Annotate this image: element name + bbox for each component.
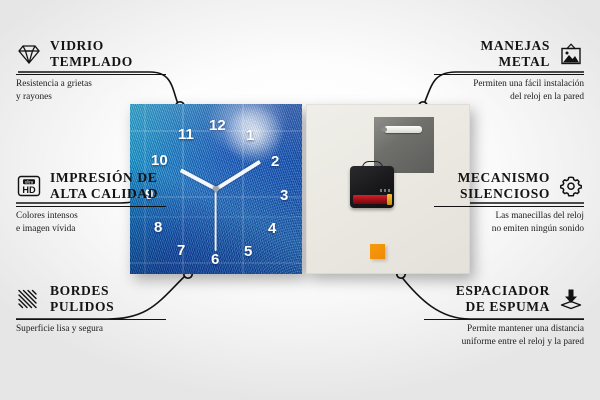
polished-edges-icon [16,288,42,310]
clock-numeral-10: 10 [151,153,168,168]
callout-description: Superficie lisa y segura [16,323,166,336]
callout-title: ESPACIADOR DE ESPUMA [456,283,550,315]
callout-mecanismo-silencioso: MECANISMO SILENCIOSO Las manecillas del … [434,170,584,236]
callout-header: ultra HD IMPRESIÓN DE ALTA CALIDAD [16,170,166,202]
callout-title-line2: ALTA CALIDAD [50,186,158,201]
callout-title-line1: ESPACIADOR [456,283,550,298]
callout-title: VIDRIO TEMPLADO [50,38,133,70]
callout-divider [16,319,166,321]
callout-description: Las manecillas del reloj no emiten ningú… [434,210,584,236]
clock-numeral-11: 11 [178,127,194,142]
clock-numeral-12: 12 [209,118,226,133]
callout-title-line1: VIDRIO [50,38,104,53]
callout-title: MANEJAS METAL [481,38,550,70]
mechanism-hanging-loop [362,161,383,171]
metal-hanger-plate [374,117,434,173]
callout-header: VIDRIO TEMPLADO [16,38,166,70]
callout-divider [434,74,584,76]
battery [353,195,391,204]
callout-header: MANEJAS METAL [434,38,584,70]
callout-title-line2: PULIDOS [50,299,114,314]
callout-description: Permiten una fácil instalación del reloj… [434,78,584,104]
callout-impresion-alta-calidad: ultra HD IMPRESIÓN DE ALTA CALIDAD Color… [16,170,166,236]
callout-title: MECANISMO SILENCIOSO [458,170,550,202]
product-photo: 12 1 2 3 4 5 6 7 8 9 10 11 [130,104,470,274]
callout-title-line1: MANEJAS [481,38,550,53]
clock-numeral-5: 5 [244,244,252,259]
clock-numeral-7: 7 [177,243,185,258]
clock-numeral-3: 3 [280,188,288,203]
callout-title-line2: DE ESPUMA [465,299,550,314]
callout-espaciador-de-espuma: ESPACIADOR DE ESPUMA Permite mantener un… [424,283,584,349]
callout-title: IMPRESIÓN DE ALTA CALIDAD [50,170,158,202]
callout-divider [434,206,584,208]
callout-title-line1: BORDES [50,283,109,298]
callout-divider [424,319,584,321]
callout-title-line2: METAL [498,54,550,69]
gear-icon [558,175,584,197]
callout-divider [16,206,166,208]
callout-divider [16,74,166,76]
callout-description: Permite mantener una distancia uniforme … [424,323,584,349]
clock-second-hand [215,189,217,251]
callout-description: Colores intensos e imagen vívida [16,210,166,236]
callout-header: MECANISMO SILENCIOSO [434,170,584,202]
foam-spacer [370,244,385,259]
callout-header: BORDES PULIDOS [16,283,166,315]
callout-vidrio-templado: VIDRIO TEMPLADO Resistencia a grietas y … [16,38,166,104]
arrow-down-pad-icon [558,288,584,310]
callout-header: ESPACIADOR DE ESPUMA [424,283,584,315]
mechanism-label [380,189,390,192]
svg-text:ultra: ultra [25,180,34,185]
quartz-mechanism-box [350,166,394,208]
callout-title-line2: SILENCIOSO [460,186,550,201]
clock-numeral-4: 4 [268,221,276,236]
clock-numeral-1: 1 [246,128,254,143]
clock-numeral-2: 2 [271,154,279,169]
callout-bordes-pulidos: BORDES PULIDOS Superficie lisa y segura [16,283,166,336]
product-infographic: 12 1 2 3 4 5 6 7 8 9 10 11 [0,0,600,400]
picture-frame-hanging-icon [558,43,584,65]
hanger-keyhole-slot [384,126,422,133]
clock-numeral-6: 6 [211,252,219,267]
diamond-icon [16,43,42,65]
callout-title-line2: TEMPLADO [50,54,133,69]
ultra-hd-icon: ultra HD [16,175,42,197]
callout-title-line1: MECANISMO [458,170,550,185]
callout-title-line1: IMPRESIÓN DE [50,170,157,185]
callout-manejas-metal: MANEJAS METAL Permiten una fácil instala… [434,38,584,104]
callout-description: Resistencia a grietas y rayones [16,78,166,104]
clock-center-cap [213,186,219,192]
svg-text:HD: HD [22,185,36,195]
callout-title: BORDES PULIDOS [50,283,114,315]
